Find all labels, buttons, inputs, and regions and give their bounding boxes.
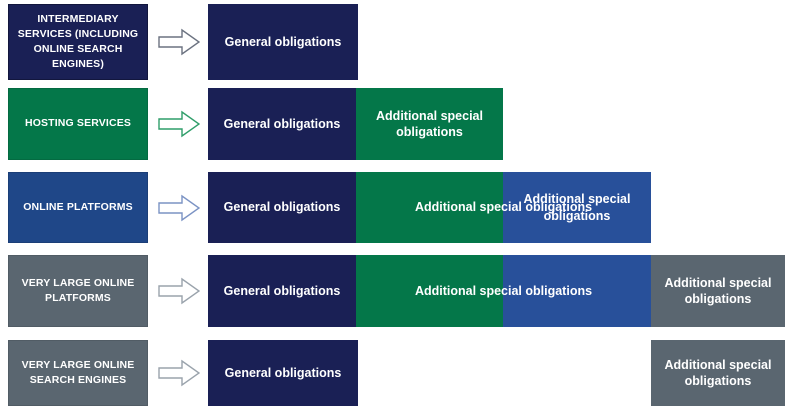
obligation-label: Additional special obligations — [659, 357, 777, 390]
category-label: VERY LARGE ONLINE PLATFORMS — [15, 276, 141, 306]
obligation-block[interactable]: Additional special obligations — [356, 88, 503, 160]
obligation-span-label: Additional special obligations — [356, 255, 651, 327]
right-arrow-icon — [156, 172, 202, 243]
obligation-block[interactable]: General obligations — [208, 255, 356, 327]
obligation-span-label: Additional special obligations — [356, 172, 651, 243]
obligation-label: Additional special obligations — [364, 108, 495, 141]
obligation-label: Additional special obligations — [415, 283, 592, 299]
category-box[interactable]: VERY LARGE ONLINE PLATFORMS — [8, 255, 148, 327]
right-arrow-icon — [156, 255, 202, 327]
category-label: INTERMEDIARY SERVICES (INCLUDING ONLINE … — [15, 12, 141, 73]
right-arrow-icon — [156, 340, 202, 406]
category-box[interactable]: ONLINE PLATFORMS — [8, 172, 148, 243]
diagram-row: HOSTING SERVICESGeneral obligationsAddit… — [0, 88, 800, 160]
obligation-label: Additional special obligations — [659, 275, 777, 308]
obligation-block[interactable]: General obligations — [208, 172, 356, 243]
diagram-row: ONLINE PLATFORMSGeneral obligationsAddit… — [0, 172, 800, 243]
dsa-obligations-diagram: INTERMEDIARY SERVICES (INCLUDING ONLINE … — [0, 0, 800, 412]
obligation-label: Additional special obligations — [415, 199, 592, 215]
obligation-block[interactable]: General obligations — [208, 4, 358, 80]
category-label: VERY LARGE ONLINE SEARCH ENGINES — [15, 358, 141, 388]
diagram-row: VERY LARGE ONLINE SEARCH ENGINESGeneral … — [0, 340, 800, 406]
obligation-block[interactable]: General obligations — [208, 340, 358, 406]
right-arrow-icon — [156, 4, 202, 80]
obligation-label: General obligations — [225, 34, 342, 50]
category-label: HOSTING SERVICES — [25, 116, 131, 131]
obligation-label: General obligations — [224, 199, 341, 215]
obligation-block[interactable]: Additional special obligations — [651, 340, 785, 406]
obligation-label: General obligations — [225, 365, 342, 381]
obligation-block[interactable]: General obligations — [208, 88, 356, 160]
obligation-label: General obligations — [224, 283, 341, 299]
diagram-row: INTERMEDIARY SERVICES (INCLUDING ONLINE … — [0, 4, 800, 80]
obligation-block[interactable]: Additional special obligations — [651, 255, 785, 327]
category-box[interactable]: HOSTING SERVICES — [8, 88, 148, 160]
category-box[interactable]: INTERMEDIARY SERVICES (INCLUDING ONLINE … — [8, 4, 148, 80]
diagram-row: VERY LARGE ONLINE PLATFORMSGeneral oblig… — [0, 255, 800, 327]
category-label: ONLINE PLATFORMS — [23, 200, 133, 215]
right-arrow-icon — [156, 88, 202, 160]
category-box[interactable]: VERY LARGE ONLINE SEARCH ENGINES — [8, 340, 148, 406]
obligation-label: General obligations — [224, 116, 341, 132]
